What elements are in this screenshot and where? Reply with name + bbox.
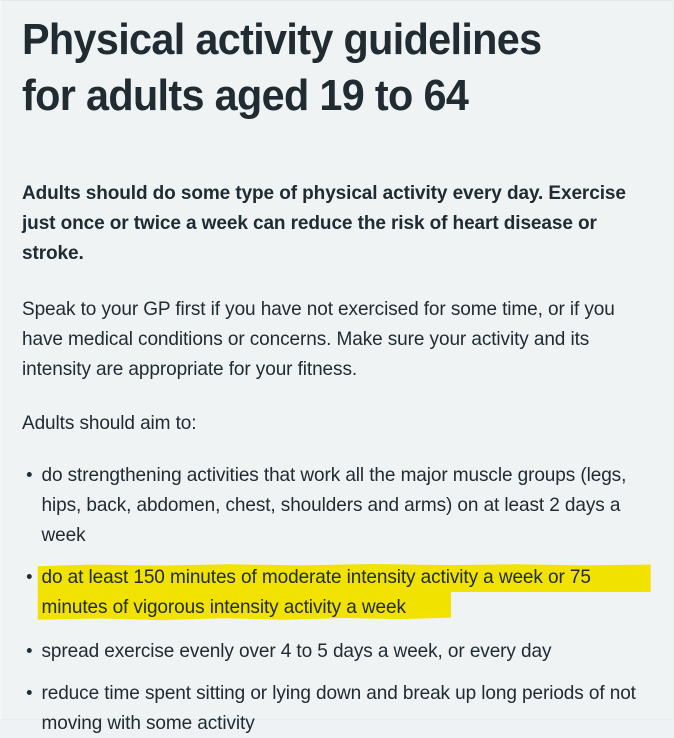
bullet-icon xyxy=(27,472,32,477)
list-intro-text: Adults should aim to: xyxy=(22,384,637,438)
guidelines-list: do strengthening activities that work al… xyxy=(22,438,653,738)
list-item-label: do strengthening activities that work al… xyxy=(42,464,627,546)
list-item-label: reduce time spent sitting or lying down … xyxy=(42,682,636,734)
bullet-icon xyxy=(27,574,32,579)
list-item-label: do at least 150 minutes of moderate inte… xyxy=(42,566,591,618)
list-item-label: spread exercise evenly over 4 to 5 days … xyxy=(42,640,552,662)
body-paragraph: Speak to your GP first if you have not e… xyxy=(22,268,637,384)
lead-paragraph: Adults should do some type of physical a… xyxy=(22,124,637,268)
article-page: Physical activity guidelines for adults … xyxy=(0,0,674,720)
page-title: Physical activity guidelines for adults … xyxy=(22,1,615,124)
list-item-highlighted: do at least 150 minutes of moderate inte… xyxy=(22,562,637,622)
list-item: do strengthening activities that work al… xyxy=(22,460,637,550)
list-item: reduce time spent sitting or lying down … xyxy=(22,678,637,738)
bullet-icon xyxy=(27,690,32,695)
list-item: spread exercise evenly over 4 to 5 days … xyxy=(22,636,637,666)
bullet-icon xyxy=(27,648,32,653)
